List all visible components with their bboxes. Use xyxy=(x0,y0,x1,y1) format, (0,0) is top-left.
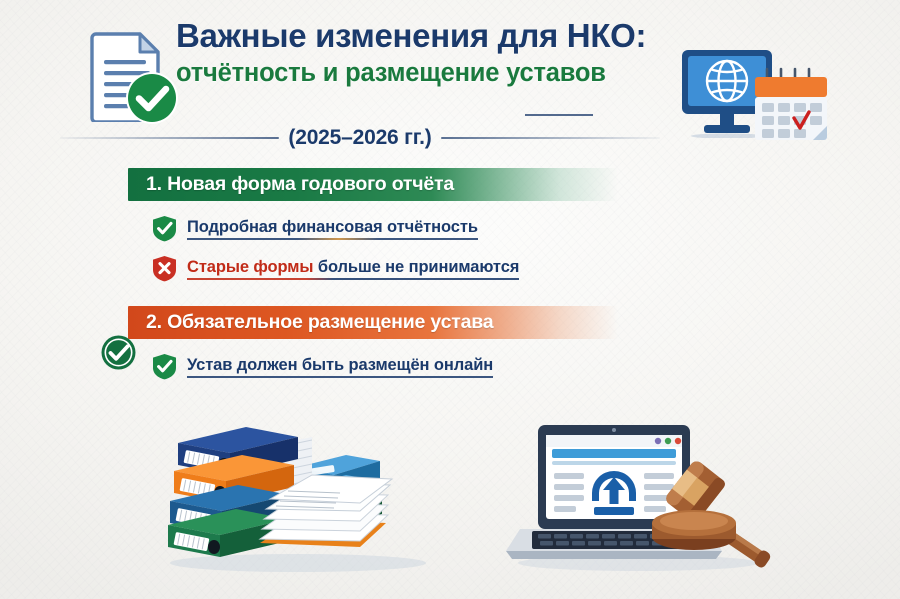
section-1: 1. Новая форма годового отчёта Подробная… xyxy=(0,168,900,295)
year-range-label: (2025–2026 гг.) xyxy=(288,126,431,150)
list-item: Подробная финансовая отчётность xyxy=(152,215,900,242)
bullet-text: Подробная финансовая отчётность xyxy=(187,218,478,240)
shield-check-icon xyxy=(152,215,177,242)
bullet-underline xyxy=(187,278,519,280)
bullet-label: Устав должен быть размещён онлайн xyxy=(187,356,493,374)
year-rule-left xyxy=(60,137,279,139)
bullet-accent: Старые формы xyxy=(187,258,313,276)
title-block: Важные изменения для НКО: отчётность и р… xyxy=(176,18,706,89)
section-1-title: 1. Новая форма годового отчёта xyxy=(128,173,454,196)
section-1-header-bar: 1. Новая форма годового отчёта xyxy=(128,168,618,201)
upload-icon xyxy=(592,471,636,515)
bullet-label: Подробная финансовая отчётность xyxy=(187,218,478,236)
bullet-text: Устав должен быть размещён онлайн xyxy=(187,356,493,378)
binder-stack-illustration xyxy=(148,415,448,575)
section-1-bullets: Подробная финансовая отчётность Старые ф… xyxy=(0,215,900,282)
list-item: Устав должен быть размещён онлайн xyxy=(152,353,900,380)
shield-cross-icon xyxy=(152,255,177,282)
year-range-row: (2025–2026 гг.) xyxy=(60,126,660,150)
calendar-check-icon xyxy=(750,66,834,146)
bullet-underline xyxy=(187,238,478,240)
green-check-circle-icon xyxy=(124,70,180,126)
bullet-underline xyxy=(187,376,493,378)
shield-check-icon xyxy=(152,353,177,380)
check-circle-icon xyxy=(100,334,137,371)
page-subtitle: отчётность и размещение уставов xyxy=(176,58,706,89)
bullet-text: Старые формы больше не принимаются xyxy=(187,258,519,280)
laptop-gavel-illustration xyxy=(498,415,788,575)
year-rule-right xyxy=(441,137,660,139)
bullet-label: больше не принимаются xyxy=(318,258,519,276)
header: Важные изменения для НКО: отчётность и р… xyxy=(0,18,900,153)
list-item: Старые формы больше не принимаются xyxy=(152,255,900,282)
page-title: Важные изменения для НКО: xyxy=(176,18,706,55)
section-2-header-bar: 2. Обязательное размещение устава xyxy=(128,306,618,339)
infographic-canvas: Важные изменения для НКО: отчётность и р… xyxy=(0,0,900,599)
subtitle-rule xyxy=(525,114,593,116)
section-2-title: 2. Обязательное размещение устава xyxy=(128,311,493,334)
